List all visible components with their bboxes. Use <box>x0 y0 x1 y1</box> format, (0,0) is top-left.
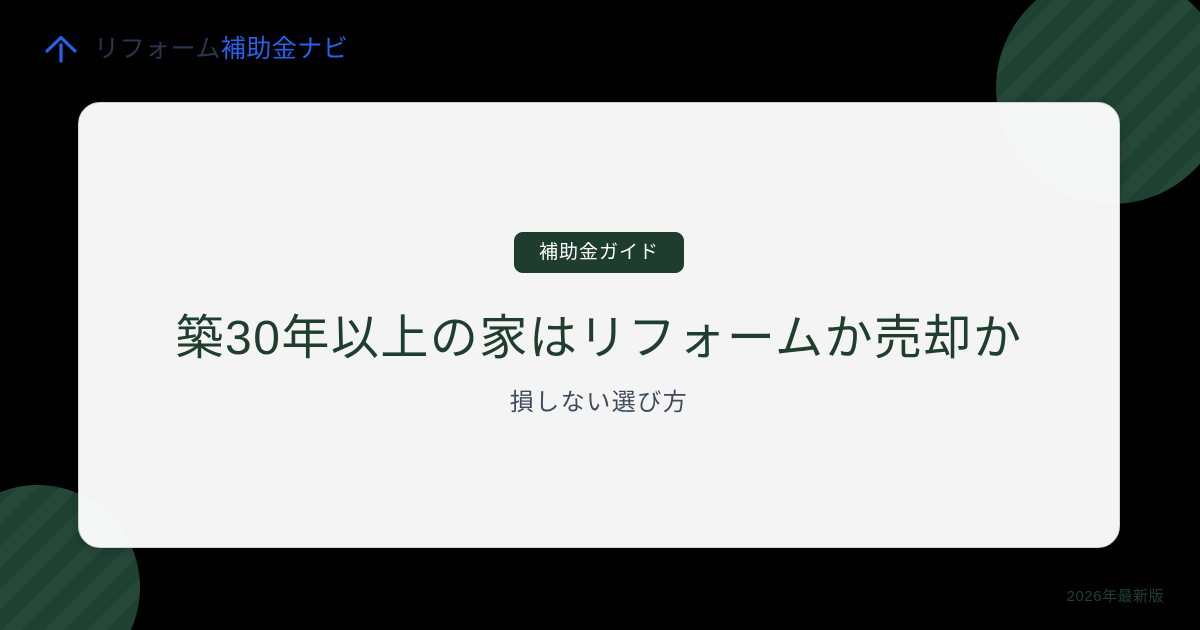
og-image-canvas: リフォーム補助金ナビ 補助金ガイド 築30年以上の家はリフォームか売却か 損しな… <box>0 0 1200 630</box>
brand-name-primary: リフォーム <box>94 35 221 63</box>
site-logo[interactable]: リフォーム補助金ナビ <box>40 28 348 70</box>
site-logo-text: リフォーム補助金ナビ <box>94 37 348 62</box>
page-title: 築30年以上の家はリフォームか売却か <box>176 310 1023 368</box>
category-badge: 補助金ガイド <box>514 232 684 273</box>
page-subtitle: 損しない選び方 <box>510 387 689 418</box>
up-arrow-icon <box>40 28 82 70</box>
brand-name-secondary: 補助金ナビ <box>221 35 349 63</box>
hero-card: 補助金ガイド 築30年以上の家はリフォームか売却か 損しない選び方 <box>78 102 1120 548</box>
edition-note: 2026年最新版 <box>1067 589 1164 604</box>
